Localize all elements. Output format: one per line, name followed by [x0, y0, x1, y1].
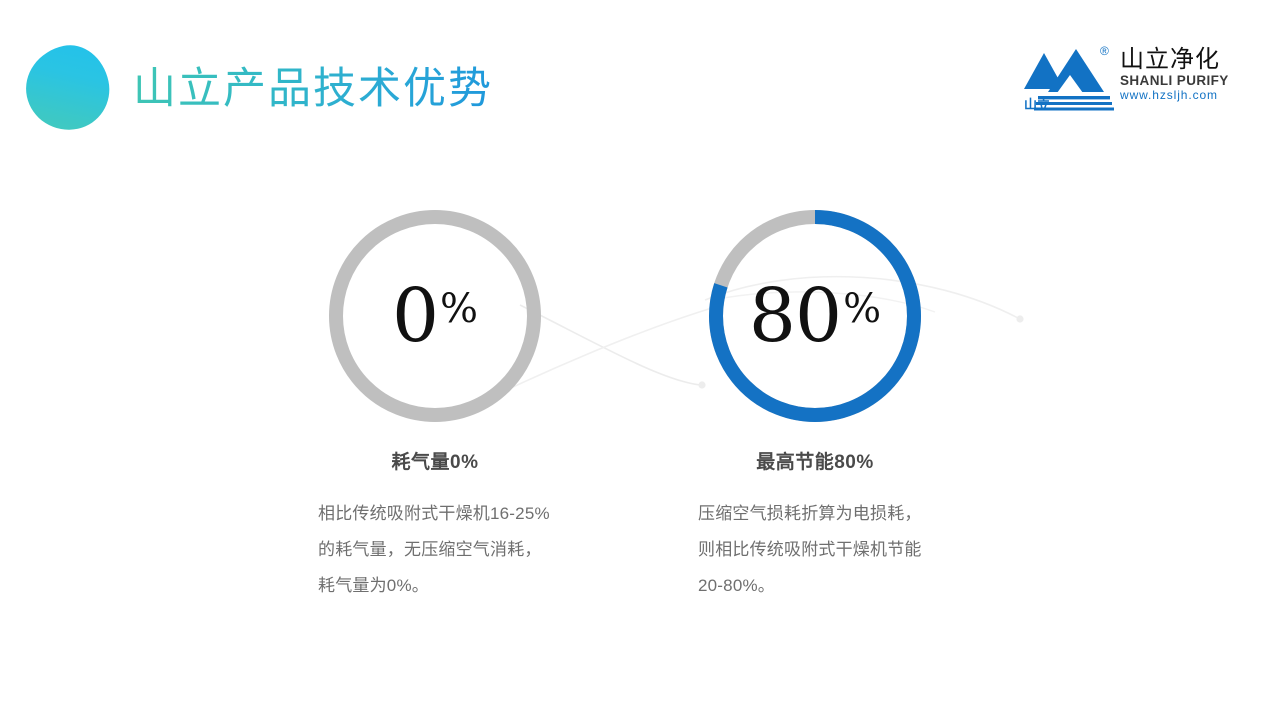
metric-heading-0: 耗气量0%	[305, 447, 565, 474]
donut-center-value-0: 0 %	[324, 205, 546, 427]
donut-number-0: 0	[392, 279, 438, 353]
brand-logo[interactable]: 山立 ® 山立净化 SHANLI PURIFY www.hzsljh.com	[1024, 45, 1242, 115]
metric-card-consumption: 0 % 耗气量0% 相比传统吸附式干燥机16-25%的耗气量，无压缩空气消耗，耗…	[305, 205, 565, 604]
logo-text-block: 山立净化 SHANLI PURIFY www.hzsljh.com	[1120, 47, 1244, 102]
donut-chart-0: 0 %	[324, 205, 546, 427]
metric-description-0: 相比传统吸附式干燥机16-25%的耗气量，无压缩空气消耗，耗气量为0%。	[318, 496, 553, 604]
registered-trademark-icon: ®	[1100, 45, 1109, 57]
donut-percent-sign-0: %	[440, 289, 478, 329]
metric-description-1: 压缩空气损耗折算为电损耗，则相比传统吸附式干燥机节能20-80%。	[698, 496, 933, 604]
page-title: 山立产品技术优势	[133, 58, 493, 120]
logo-brand-cn: 山立净化	[1120, 47, 1244, 73]
svg-text:山立: 山立	[1024, 97, 1050, 112]
slide-header: 山立产品技术优势 山立 ® 山立净化 SHANLI PURIFY www.hzs…	[0, 0, 1280, 150]
metric-card-energy-saving: 80 % 最高节能80% 压缩空气损耗折算为电损耗，则相比传统吸附式干燥机节能2…	[685, 205, 945, 604]
donut-number-1: 80	[749, 279, 841, 353]
decorative-blob-icon	[18, 38, 117, 137]
logo-website: www.hzsljh.com	[1120, 88, 1244, 102]
donut-chart-1: 80 %	[704, 205, 926, 427]
logo-brand-en: SHANLI PURIFY	[1120, 73, 1244, 88]
slide-canvas: 山立产品技术优势 山立 ® 山立净化 SHANLI PURIFY www.hzs…	[0, 0, 1280, 720]
donut-percent-sign-1: %	[843, 289, 881, 329]
metric-heading-1: 最高节能80%	[685, 447, 945, 474]
donut-center-value-1: 80 %	[704, 205, 926, 427]
